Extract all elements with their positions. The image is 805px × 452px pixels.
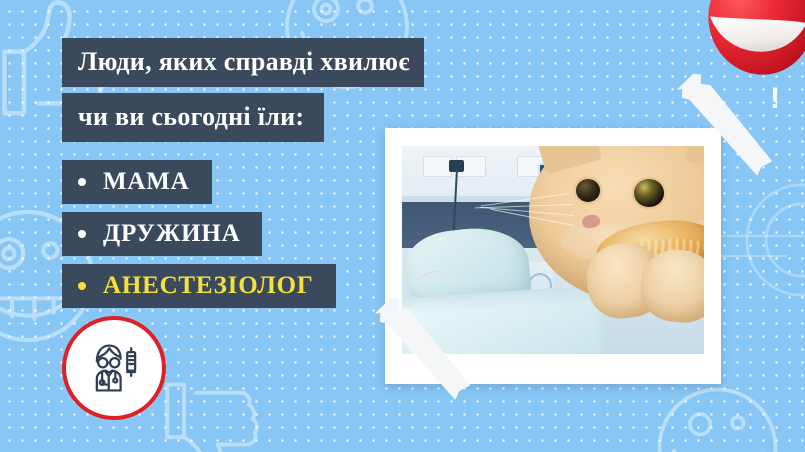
power-outlet-icon — [423, 156, 452, 177]
cat-ear-right — [685, 146, 704, 174]
headline: Люди, яких справді хвилює чи ви сьогодні… — [62, 38, 424, 142]
meme-image: Люди, яких справді хвилює чи ви сьогодні… — [0, 0, 805, 452]
bullet-list: МАМА ДРУЖИНА АНЕСТЕЗІОЛОГ — [62, 160, 336, 316]
bullet-dot-icon — [78, 282, 86, 290]
list-item-highlighted: АНЕСТЕЗІОЛОГ — [62, 264, 336, 308]
cat-eye-right — [634, 179, 664, 207]
list-item-label: АНЕСТЕЗІОЛОГ — [103, 273, 314, 298]
hospital-scene: 73 62 30 — [402, 146, 704, 354]
bullet-dot-icon — [78, 178, 86, 186]
pillow-seam — [416, 268, 448, 291]
list-item: МАМА — [62, 160, 212, 204]
list-item: ДРУЖИНА — [62, 212, 262, 256]
doctor-badge — [62, 316, 166, 420]
cat-eye-left — [576, 179, 601, 202]
bullet-dot-icon — [78, 230, 86, 238]
badge-inner-circle — [72, 326, 156, 410]
laughing-face-emoji — [703, 0, 805, 92]
doctor-with-syringe-icon — [81, 335, 147, 401]
headline-line-2: чи ви сьогодні їли: — [62, 93, 324, 142]
cat-hospital-photo: 73 62 30 — [402, 146, 704, 354]
photo-card: 73 62 30 — [385, 128, 721, 384]
headline-line-1: Люди, яких справді хвилює — [62, 38, 424, 87]
list-item-label: МАМА — [103, 169, 190, 194]
list-item-label: ДРУЖИНА — [103, 221, 240, 246]
cat-ear-left — [531, 146, 602, 175]
exclamation-mark: ! — [770, 84, 779, 114]
